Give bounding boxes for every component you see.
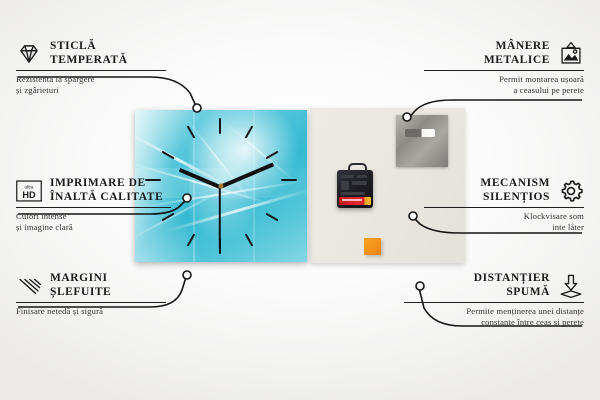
divider (424, 207, 584, 208)
callout-sub-line2: a ceasului pe perete (424, 85, 584, 96)
callout-title-line2: SPUMĂ (474, 286, 550, 300)
ultra-hd-icon: ultra HD (16, 178, 42, 204)
callout-sticla-temperata: STICLĂ TEMPERATĂ Rezistentă la spargere … (16, 40, 166, 95)
divider (16, 302, 166, 303)
battery (339, 197, 371, 205)
gear-icon (558, 178, 584, 204)
callout-margini-slefuite: MARGINI ȘLEFUITE Finisare netedă și sigu… (16, 272, 166, 317)
callout-sub-line2: constante între ceas și perete (404, 317, 584, 328)
keyhole-slot (405, 129, 435, 137)
divider (424, 70, 584, 71)
callout-title-line1: MECANISM (480, 177, 550, 191)
callout-sub-line2: inte låter (424, 222, 584, 233)
callout-mecanism-silentios: MECANISM SILENȚIOS Klockvisare som inte … (424, 177, 584, 232)
picture-hanger-icon (558, 41, 584, 67)
infographic-canvas: STICLĂ TEMPERATĂ Rezistentă la spargere … (0, 0, 600, 400)
callout-title-line1: DISTANȚIER (474, 272, 550, 286)
callout-sub-line1: Permite menținerea unei distanțe (404, 306, 584, 317)
callout-title-line2: ȘLEFUITE (50, 286, 111, 300)
metal-hanger-plate (396, 115, 448, 167)
callout-sub-line2: și zgârieturi (16, 85, 166, 96)
callout-distantier-spuma: DISTANȚIER SPUMĂ Permite menținerea unei… (404, 272, 584, 327)
callout-title-line1: MARGINI (50, 272, 111, 286)
hd-label: HD (22, 189, 36, 199)
clock-mechanism (337, 170, 373, 208)
foam-spacer-icon (558, 273, 584, 299)
divider (16, 70, 166, 71)
ultra-label: ultra (25, 184, 34, 189)
polished-edges-icon (16, 273, 42, 299)
callout-sub-line1: Klockvisare som (424, 211, 584, 222)
diamond-icon (16, 41, 42, 67)
callout-title-line1: MÂNERE (484, 40, 550, 54)
product-image (135, 108, 465, 266)
hanger-loop-icon (348, 163, 367, 174)
callout-sub-line1: Culori intense (16, 211, 171, 222)
callout-title-line1: STICLĂ (50, 40, 128, 54)
clock-center-pin (219, 184, 224, 189)
divider (404, 302, 584, 303)
divider (16, 207, 171, 208)
callout-title-line2: ÎNALTĂ CALITATE (50, 191, 163, 205)
callout-sub-line2: și imagine clară (16, 222, 171, 233)
callout-imprimare-calitate: ultra HD IMPRIMARE DE ÎNALTĂ CALITATE Cu… (16, 177, 171, 232)
callout-sub-line1: Permit montarea ușoară (424, 74, 584, 85)
callout-title-line2: METALICE (484, 54, 550, 68)
callout-title-line2: TEMPERATĂ (50, 54, 128, 68)
callout-sub-line1: Rezistentă la spargere (16, 74, 166, 85)
second-hand (219, 187, 221, 249)
foam-spacer (364, 238, 381, 255)
callout-title-line2: SILENȚIOS (480, 191, 550, 205)
callout-sub-line1: Finisare netedă și sigură (16, 306, 166, 317)
callout-title-line1: IMPRIMARE DE (50, 177, 163, 191)
callout-manere-metalice: MÂNERE METALICE Permit montarea ușoară a… (424, 40, 584, 95)
